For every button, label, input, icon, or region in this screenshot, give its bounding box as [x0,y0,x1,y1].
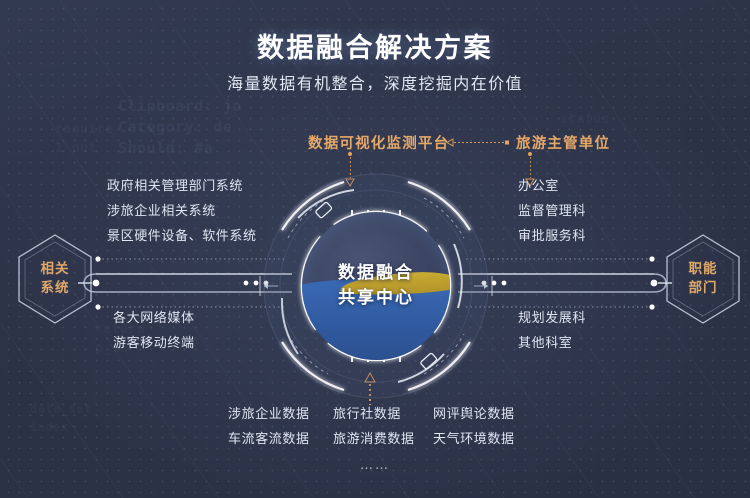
data-cell: 涉旅企业数据 [228,403,333,422]
list-item: 景区硬件设备、软件系统 [107,224,257,249]
label-visualization-platform: 数据可视化监测平台 [308,132,449,153]
list-item: 涉旅企业相关系统 [107,199,257,224]
data-cell: 旅行社数据 [333,403,433,422]
right-departments-list-bottom: 规划发展科 其他科室 [518,306,586,356]
list-item: 监督管理科 [518,199,586,224]
connector-dot [348,152,352,156]
left-systems-list-top: 政府相关管理部门系统 涉旅企业相关系统 景区硬件设备、软件系统 [107,174,257,249]
bottom-data-grid: 涉旅企业数据 旅行社数据 网评舆论数据 车流客流数据 旅游消费数据 天气环境数据 [228,403,528,447]
hexagon-functional-departments[interactable]: 职能 部门 [664,233,742,325]
list-item: 规划发展科 [518,306,586,331]
data-cell: 旅游消费数据 [333,428,433,447]
center-line1: 数据融合 [338,261,414,286]
list-item: 办公室 [518,174,586,199]
hexagon-right-label: 职能 部门 [664,233,742,325]
right-departments-list-top: 办公室 监督管理科 审批服务科 [518,174,586,249]
data-cell: 网评舆论数据 [433,403,528,422]
data-cell: 天气环境数据 [433,428,528,447]
page-title: 数据融合解决方案 [0,26,750,65]
center-line2: 共享中心 [338,286,414,311]
hexagon-left-line1: 相关 [41,260,70,279]
hexagon-right-line1: 职能 [689,260,718,279]
hexagon-left-label: 相关 系统 [16,233,94,325]
list-item: 游客移动终端 [113,331,195,356]
data-fusion-center[interactable]: 数据融合 共享中心 [258,168,494,404]
data-cell: 车流客流数据 [228,428,333,447]
connector-dot [528,152,532,156]
hexagon-right-line2: 部门 [689,279,718,298]
center-label: 数据融合 共享中心 [258,168,494,404]
bottom-ellipsis: …… [0,458,750,473]
background-watermark-text: Clipboard: jo Category: de Should: #a [118,96,242,159]
background-watermark-text: require 1 nut [55,120,113,158]
background-watermark-text: data_set index [30,400,92,436]
hexagon-related-systems[interactable]: 相关 系统 [16,233,94,325]
page-subtitle: 海量数据有机整合，深度挖掘内在价值 [0,70,750,94]
dotted-arrow-left-icon [446,138,512,147]
list-item: 审批服务科 [518,224,586,249]
list-item: 各大网络媒体 [113,306,195,331]
list-item: 其他科室 [518,331,586,356]
infographic-canvas: Clipboard: jo Category: de Should: #a re… [0,0,750,498]
list-item: 政府相关管理部门系统 [107,174,257,199]
left-systems-list-bottom: 各大网络媒体 游客移动终端 [113,306,195,356]
hexagon-left-line2: 系统 [41,279,70,298]
label-tourism-authority: 旅游主管单位 [516,132,610,153]
